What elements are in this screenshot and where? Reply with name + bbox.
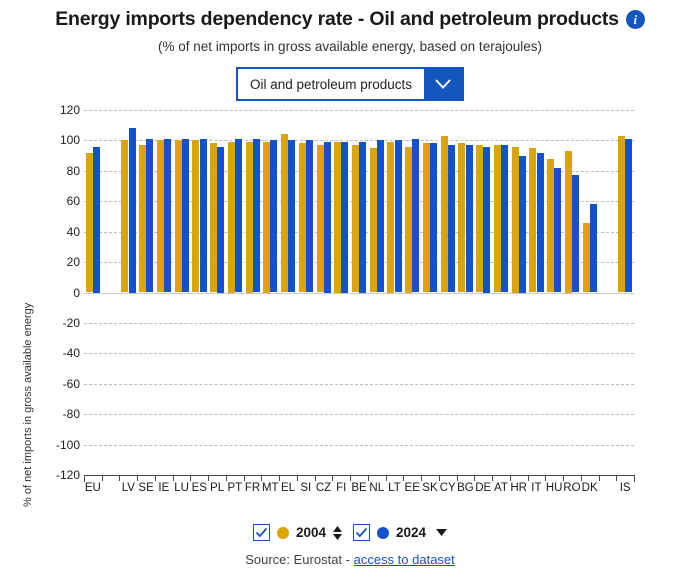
x-axis-label: CZ [316,482,331,494]
x-axis-tick [403,475,404,481]
dataset-link[interactable]: access to dataset [354,552,455,567]
bar-ES-2024[interactable] [200,139,207,293]
x-axis-tick [173,475,174,481]
bar-DK-2004[interactable] [583,223,590,293]
bar-IT-2024[interactable] [537,153,544,293]
y-axis-tick-label: 20 [42,255,80,269]
x-axis-tick [492,475,493,481]
x-axis-tick [510,475,511,481]
x-axis-label: AT [494,482,508,494]
y-axis-tick-label: 40 [42,225,80,239]
chart-header: Energy imports dependency rate - Oil and… [0,0,700,54]
bar-FI-2024[interactable] [341,142,348,293]
bar-LV-2024[interactable] [129,128,136,292]
bar-CZ-2024[interactable] [324,142,331,293]
bar-NL-2024[interactable] [377,140,384,292]
bar-DK-2024[interactable] [590,204,597,292]
bar-PT-2024[interactable] [235,139,242,293]
x-axis-tick [315,475,316,481]
x-axis-tick [581,475,582,481]
bar-SE-2024[interactable] [146,139,153,293]
bar-FR-2024[interactable] [253,139,260,293]
bar-BE-2024[interactable] [359,142,366,293]
page-title: Energy imports dependency rate - Oil and… [55,8,619,31]
x-axis-tick [297,475,298,481]
indicator-selector-wrap: Oil and petroleum products [0,67,700,101]
x-axis-tick [261,475,262,481]
bar-MT-2024[interactable] [270,140,277,292]
bar-BE-2004[interactable] [352,145,359,293]
x-axis-tick [528,475,529,481]
legend-item-2024[interactable]: 2024 [353,524,447,541]
chevron-down-icon[interactable] [424,69,462,99]
bar-IE-2024[interactable] [164,139,171,293]
bar-LU-2024[interactable] [182,139,189,293]
y-axis-tick-label: 0 [42,286,80,300]
bar-DE-2004[interactable] [476,145,483,293]
x-axis-tick [474,475,475,481]
y-axis-tick-label: -20 [42,316,80,330]
x-axis-label: MT [262,482,279,494]
y-axis-tick-label: 60 [42,194,80,208]
legend-item-2004[interactable]: 2004 [253,524,342,541]
bar-CY-2024[interactable] [448,145,455,293]
x-axis-tick [244,475,245,481]
bar-AT-2004[interactable] [494,145,501,293]
y-axis-tick-label: -80 [42,407,80,421]
x-axis-label: BE [351,482,366,494]
x-axis: EULVSEIELUESPLPTFRMTELSICZFIBENLLTEESKCY… [84,475,634,509]
x-axis-label: LU [174,482,189,494]
x-axis-label: DK [582,482,598,494]
bar-FR-2004[interactable] [246,142,253,293]
bar-MT-2004[interactable] [263,142,270,293]
bar-PT-2004[interactable] [228,142,235,293]
bar-SE-2004[interactable] [139,145,146,293]
bar-HU-2004[interactable] [547,159,554,293]
bar-EE-2004[interactable] [405,147,412,293]
x-axis-label: HU [546,482,563,494]
x-axis-label: NL [369,482,384,494]
bar-EL-2004[interactable] [281,134,288,292]
bar-AT-2024[interactable] [501,145,508,293]
x-axis-tick [102,475,103,481]
x-axis-label: FR [245,482,260,494]
bar-IS-2004[interactable] [618,136,625,293]
y-axis-tick-label: 100 [42,133,80,147]
bar-NL-2004[interactable] [370,148,377,292]
legend-swatch-2024 [377,527,389,539]
bar-SK-2024[interactable] [430,143,437,292]
x-axis-label: CY [440,482,456,494]
bar-HR-2024[interactable] [519,156,526,293]
y-axis-tick-label: -40 [42,346,80,360]
chart-subtitle: (% of net imports in gross available ene… [0,39,700,54]
x-axis-label: PT [227,482,242,494]
x-axis-label: EL [281,482,295,494]
bar-PL-2024[interactable] [217,147,224,293]
chart-legend: 2004 2024 [0,524,700,541]
y-axis-tick-label: 120 [42,103,80,117]
bar-EE-2024[interactable] [412,139,419,293]
bar-EU-2004[interactable] [86,153,93,293]
x-axis-label: SK [422,482,437,494]
chart-footer: Source: Eurostat - access to dataset [0,552,700,567]
x-axis-tick [439,475,440,481]
legend-swatch-2004 [277,527,289,539]
bar-HR-2004[interactable] [512,147,519,293]
x-axis-label: BG [457,482,474,494]
indicator-select[interactable]: Oil and petroleum products [236,67,464,101]
bar-LU-2004[interactable] [175,140,182,292]
x-axis-label: DE [475,482,491,494]
bar-CZ-2004[interactable] [317,145,324,293]
x-axis-label: FI [336,482,346,494]
bar-BG-2004[interactable] [458,143,465,292]
x-axis-label: HR [510,482,527,494]
x-axis-tick [545,475,546,481]
x-axis-label: LT [388,482,401,494]
x-axis-label: PL [210,482,224,494]
legend-label-2004: 2004 [296,525,326,540]
x-axis-tick [421,475,422,481]
y-axis-tick-label: 80 [42,164,80,178]
x-axis-tick [208,475,209,481]
x-axis-label: EE [405,482,420,494]
bar-IS-2024[interactable] [625,139,632,293]
x-axis-tick [563,475,564,481]
bar-EL-2024[interactable] [288,140,295,292]
x-axis-tick [226,475,227,481]
x-axis-label: EU [85,482,101,494]
bar-ES-2004[interactable] [192,140,199,292]
bar-LV-2004[interactable] [121,140,128,292]
bar-SI-2004[interactable] [299,143,306,292]
x-axis-label: RO [563,482,580,494]
x-axis-tick [119,475,120,481]
bar-EU-2024[interactable] [93,147,100,293]
legend-label-2024: 2024 [396,525,426,540]
x-axis-tick [616,475,617,481]
chart-bars [84,110,634,475]
bar-DE-2024[interactable] [483,147,490,293]
x-axis-label: IT [531,482,541,494]
x-axis-label: SE [138,482,153,494]
source-label: Source: Eurostat - [245,552,353,567]
x-axis-tick [279,475,280,481]
bar-PL-2004[interactable] [210,143,217,292]
chart-plot-area: % of net imports in gross available ener… [0,110,700,500]
chevron-down-icon[interactable] [436,529,447,536]
spinner-up-down-icon[interactable] [333,526,342,540]
bar-RO-2024[interactable] [572,175,579,292]
legend-checkbox-2004[interactable] [253,524,270,541]
bar-IE-2004[interactable] [157,140,164,292]
x-axis-tick [457,475,458,481]
x-axis-label: LV [122,482,135,494]
x-axis-tick [386,475,387,481]
x-axis-cap-right [634,475,635,482]
bar-BG-2024[interactable] [466,145,473,293]
x-axis-label: SI [300,482,311,494]
x-axis-tick [350,475,351,481]
x-axis-label: ES [192,482,207,494]
title-row: Energy imports dependency rate - Oil and… [0,8,700,31]
bar-LT-2024[interactable] [395,140,402,292]
x-axis-tick [137,475,138,481]
x-axis-label: IE [158,482,169,494]
bar-SK-2004[interactable] [423,143,430,292]
x-axis-tick [599,475,600,481]
x-axis-tick [368,475,369,481]
indicator-select-value[interactable]: Oil and petroleum products [238,69,424,99]
x-axis-tick [84,475,85,481]
bar-IT-2004[interactable] [529,148,536,292]
x-axis-tick [332,475,333,481]
bar-LT-2004[interactable] [387,142,394,293]
bar-HU-2024[interactable] [554,168,561,293]
y-axis-tick-label: -120 [42,468,80,482]
legend-checkbox-2024[interactable] [353,524,370,541]
x-axis-tick [190,475,191,481]
bar-CY-2004[interactable] [441,136,448,293]
bar-SI-2024[interactable] [306,140,313,292]
x-axis-line [84,475,634,476]
y-axis-tick-label: -60 [42,377,80,391]
x-axis-tick [155,475,156,481]
y-axis-ticks: 120100806040200-20-40-60-80-100-120 [30,110,80,480]
bar-RO-2004[interactable] [565,151,572,292]
bar-FI-2004[interactable] [334,142,341,293]
y-axis-tick-label: -100 [42,438,80,452]
info-icon[interactable]: i [626,10,645,29]
x-axis-label: IS [620,482,631,494]
